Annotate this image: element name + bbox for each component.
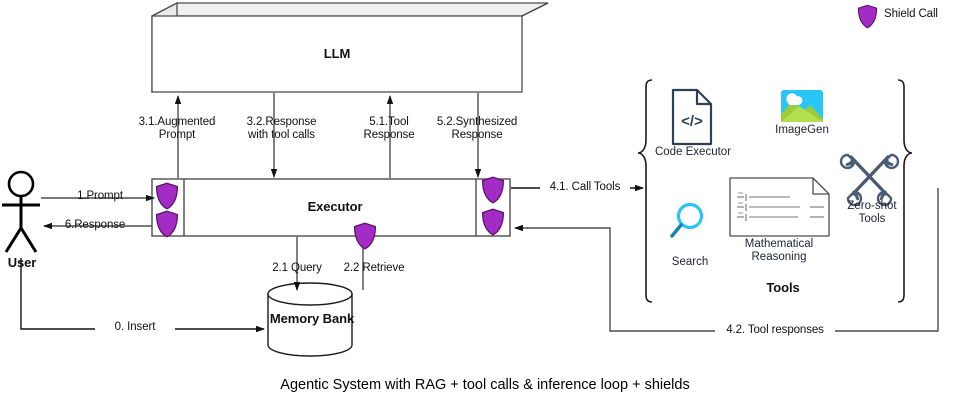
image-icon <box>781 90 823 122</box>
tool-label-search: Search <box>655 256 725 269</box>
edge-label-retrieve: 2.2 Retrieve <box>330 262 418 275</box>
edge-label-augmented-prompt: 3.1.Augmented Prompt <box>137 116 217 142</box>
code-document-icon: </> <box>673 90 711 144</box>
diagram-vector-layer: </> <box>0 0 970 411</box>
edge-insert <box>21 258 264 329</box>
shield-icon-memory <box>355 223 376 249</box>
crossed-wrenches-icon <box>841 155 898 205</box>
magnifier-icon <box>672 205 702 237</box>
user-actor-label: User <box>0 256 44 269</box>
executor-node-label: Executor <box>265 200 405 213</box>
tools-brace-right <box>898 80 912 302</box>
svg-text:</>: </> <box>681 113 703 130</box>
tool-label-zero-shot-tools: Zero-shot Tools <box>832 200 912 226</box>
legend-shield-label: Shield Call <box>884 8 964 21</box>
memory-bank-node-label: Memory Bank <box>252 312 372 325</box>
tools-brace-left <box>638 80 652 302</box>
edge-label-call-tools: 4.1. Call Tools <box>540 181 630 194</box>
formula-document-icon <box>730 178 829 236</box>
edge-label-response: 6.Response <box>40 219 150 232</box>
user-actor <box>2 172 40 252</box>
diagram-caption: Agentic System with RAG + tool calls & i… <box>0 377 970 393</box>
edge-label-prompt: 1.Prompt <box>48 190 152 203</box>
tool-label-imagegen: ImageGen <box>762 124 842 137</box>
tools-group-label: Tools <box>733 281 833 294</box>
tool-label-code-executor: Code Executor <box>645 146 741 159</box>
edge-label-response-with-tool-calls: 3.2.Response with tool calls <box>234 116 329 142</box>
edge-label-query: 2.1 Query <box>258 262 336 275</box>
edge-label-tool-response: 5.1.Tool Response <box>349 116 429 142</box>
tool-label-mathematical-reasoning: Mathematical Reasoning <box>722 238 836 264</box>
shield-icon-legend <box>858 5 876 27</box>
edge-label-tool-responses: 4.2. Tool responses <box>715 324 835 337</box>
edge-label-synthesized-response: 5.2.Synthesized Response <box>428 116 526 142</box>
diagram-canvas: </> <box>0 0 970 411</box>
edge-label-insert: 0. Insert <box>95 321 175 334</box>
llm-node-label: LLM <box>252 47 422 60</box>
